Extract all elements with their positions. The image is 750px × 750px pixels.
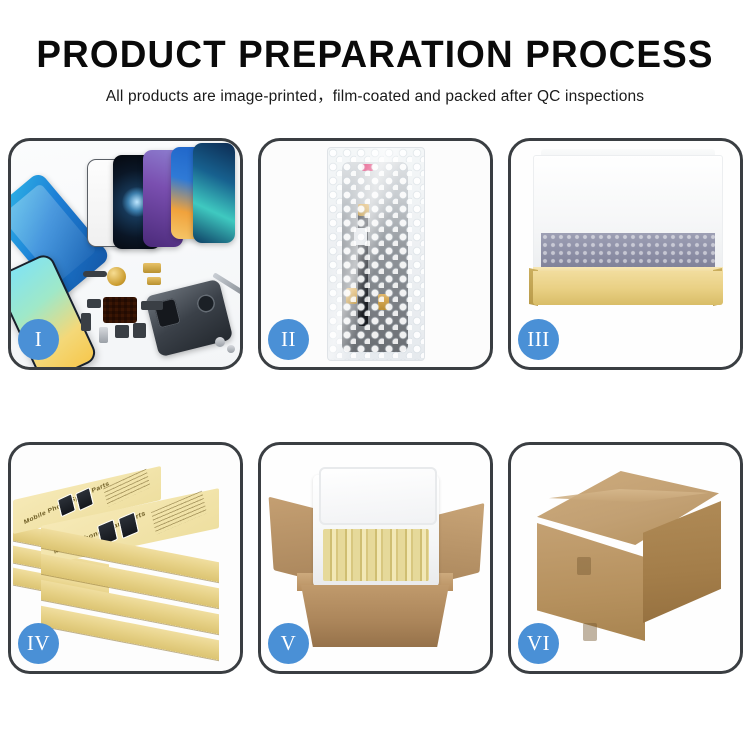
sim-tray-part: [99, 327, 108, 343]
page-subtitle: All products are image-printed，film-coat…: [0, 84, 750, 106]
stacked-yellow-boxes-inside: [323, 529, 429, 581]
teal-phone: [193, 143, 235, 243]
process-step-4: Mobile Phone Spare Parts Mobile Phone Sp…: [8, 442, 243, 674]
screw-part-a: [215, 337, 225, 347]
flex-cable-part: [81, 313, 91, 331]
box-spec-lines-back: [103, 469, 150, 507]
gold-clip-part: [147, 277, 161, 285]
small-part-strip: [83, 271, 107, 277]
step-badge-5: V: [268, 623, 309, 664]
process-step-grid: I II: [8, 138, 742, 742]
gold-bracket-part: [143, 263, 161, 273]
connector-chip-grid: [103, 297, 137, 323]
step-badge-1: I: [18, 319, 59, 360]
speaker-part: [115, 325, 129, 338]
vibrator-part: [133, 323, 146, 338]
carton-body: [301, 585, 449, 647]
step-badge-3: III: [518, 319, 559, 360]
step-badge-6: VI: [518, 623, 559, 664]
gold-coin-part: [107, 267, 126, 286]
box-yellow-front: [533, 271, 723, 305]
camera-module-part: [87, 299, 101, 308]
carton-handle-notch-bottom: [583, 623, 597, 641]
antenna-part: [141, 301, 163, 310]
product-preparation-infographic: PRODUCT PREPARATION PROCESS All products…: [0, 0, 750, 750]
plastic-sheen: [328, 148, 424, 360]
bubble-wrap-bag: [327, 147, 425, 361]
screw-part-b: [227, 345, 235, 353]
process-step-6: VI: [508, 442, 743, 674]
process-step-1: I: [8, 138, 243, 370]
process-step-2: II: [258, 138, 493, 370]
step-badge-4: IV: [18, 623, 59, 664]
process-step-5: V: [258, 442, 493, 674]
foam-container-lid: [319, 467, 437, 525]
step-badge-2: II: [268, 319, 309, 360]
process-step-3: III: [508, 138, 743, 370]
carton-handle-notch-top: [577, 557, 591, 575]
header: PRODUCT PREPARATION PROCESS All products…: [0, 0, 750, 106]
page-title: PRODUCT PREPARATION PROCESS: [11, 33, 739, 77]
